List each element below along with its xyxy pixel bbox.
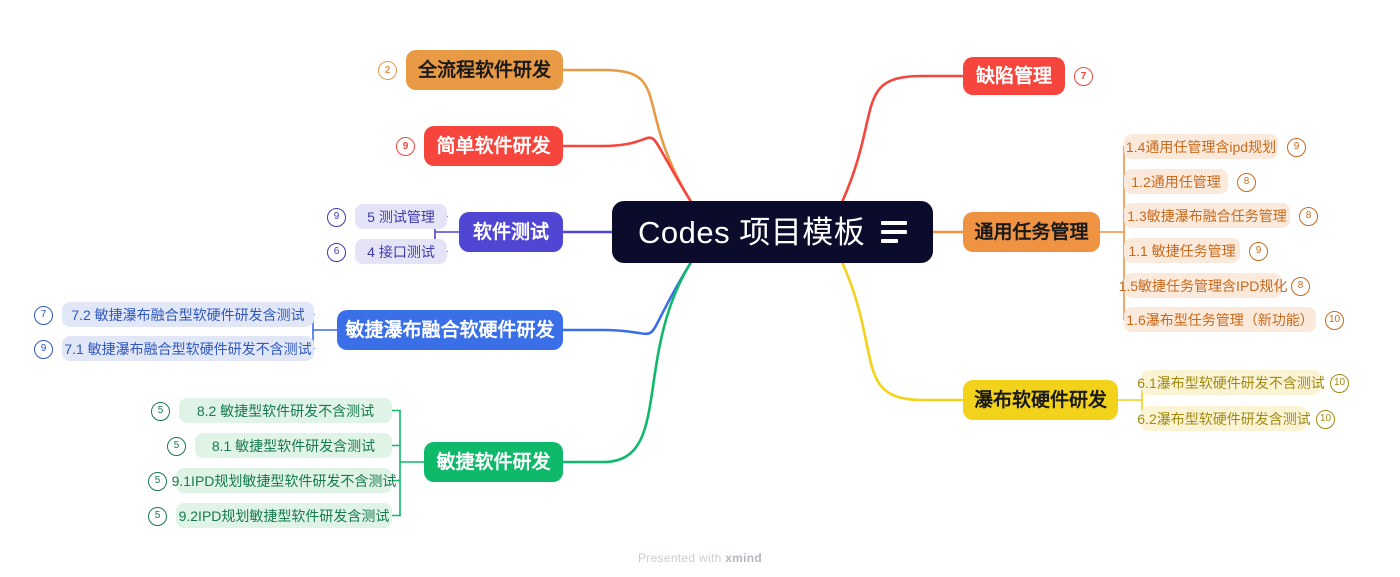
leaf-label: 8.2 敏捷型软件研发不含测试 — [197, 404, 374, 418]
branch-node-quexian[interactable]: 缺陷管理7 — [963, 57, 1065, 95]
node-badge: 5 — [148, 472, 167, 491]
leaf-label: 5 测试管理 — [367, 210, 435, 224]
node-badge: 5 — [148, 507, 167, 526]
leaf-node[interactable]: 1.5敏捷任务管理含IPD规化8 — [1124, 273, 1282, 298]
leaf-node[interactable]: 4 接口测试6 — [355, 239, 447, 264]
branch-label: 软件测试 — [473, 223, 549, 242]
node-badge: 7 — [34, 306, 53, 325]
node-badge: 5 — [151, 402, 170, 421]
branch-node-jiandan[interactable]: 简单软件研发9 — [424, 126, 563, 166]
node-badge: 10 — [1325, 311, 1344, 330]
node-badge: 8 — [1291, 277, 1310, 296]
leaf-node[interactable]: 8.2 敏捷型软件研发不含测试5 — [179, 398, 392, 423]
branch-label: 通用任务管理 — [975, 223, 1089, 242]
leaf-label: 1.3敏捷瀑布融合任务管理 — [1127, 209, 1286, 223]
leaf-node[interactable]: 6.2瀑布型软硬件研发含测试10 — [1141, 406, 1307, 431]
leaf-node[interactable]: 1.4通用任管理含ipd规划9 — [1124, 134, 1278, 159]
node-badge: 9 — [34, 340, 53, 359]
branch-label: 全流程软件研发 — [418, 61, 551, 80]
root-label: Codes 项目模板 — [638, 217, 865, 248]
leaf-node[interactable]: 5 测试管理9 — [355, 204, 447, 229]
leaf-label: 8.1 敏捷型软件研发含测试 — [212, 439, 375, 453]
branch-label: 敏捷瀑布融合软硬件研发 — [346, 321, 555, 340]
node-badge: 5 — [167, 437, 186, 456]
node-badge: 6 — [327, 243, 346, 262]
leaf-label: 6.1瀑布型软硬件研发不含测试 — [1137, 376, 1324, 390]
leaf-label: 1.2通用任管理 — [1131, 175, 1220, 189]
branch-node-tongyong[interactable]: 通用任务管理 — [963, 212, 1100, 252]
mindmap-canvas: Codes 项目模板全流程软件研发2简单软件研发9软件测试5 测试管理94 接口… — [0, 0, 1400, 577]
leaf-node[interactable]: 9.1IPD规划敏捷型软件研发不含测试5 — [176, 468, 392, 493]
branch-label: 缺陷管理 — [976, 67, 1052, 86]
branch-node-minjiepubu[interactable]: 敏捷瀑布融合软硬件研发 — [337, 310, 563, 350]
branch-label: 简单软件研发 — [437, 137, 551, 156]
branch-node-pubu[interactable]: 瀑布软硬件研发 — [963, 380, 1118, 420]
leaf-label: 7.2 敏捷瀑布融合型软硬件研发含测试 — [71, 308, 304, 322]
node-badge: 9 — [1287, 138, 1306, 157]
node-badge: 7 — [1074, 67, 1093, 86]
leaf-label: 1.4通用任管理含ipd规划 — [1126, 140, 1276, 154]
branch-label: 瀑布软硬件研发 — [974, 391, 1107, 410]
leaf-node[interactable]: 1.1 敏捷任务管理9 — [1124, 238, 1240, 263]
leaf-node[interactable]: 7.1 敏捷瀑布融合型软硬件研发不含测试9 — [62, 336, 314, 361]
branch-node-ruanjianceshi[interactable]: 软件测试 — [459, 212, 563, 252]
footer-brand: xmind — [725, 551, 762, 565]
node-badge: 9 — [1249, 242, 1268, 261]
node-badge: 9 — [327, 208, 346, 227]
footer-prefix: Presented with — [638, 551, 725, 565]
branch-node-minjieruanjian[interactable]: 敏捷软件研发 — [424, 442, 563, 482]
leaf-label: 9.1IPD规划敏捷型软件研发不含测试 — [172, 474, 397, 488]
footer-watermark: Presented with xmind — [0, 551, 1400, 565]
node-badge: 9 — [396, 137, 415, 156]
node-badge: 2 — [378, 61, 397, 80]
leaf-label: 1.5敏捷任务管理含IPD规化 — [1119, 279, 1288, 293]
leaf-node[interactable]: 1.2通用任管理8 — [1124, 169, 1228, 194]
leaf-node[interactable]: 8.1 敏捷型软件研发含测试5 — [195, 433, 392, 458]
node-badge: 8 — [1237, 173, 1256, 192]
leaf-node[interactable]: 6.1瀑布型软硬件研发不含测试10 — [1141, 370, 1321, 395]
leaf-node[interactable]: 7.2 敏捷瀑布融合型软硬件研发含测试7 — [62, 302, 314, 327]
notes-icon[interactable] — [881, 221, 907, 243]
leaf-label: 9.2IPD规划敏捷型软件研发含测试 — [179, 509, 390, 523]
leaf-node[interactable]: 1.3敏捷瀑布融合任务管理8 — [1124, 203, 1290, 228]
root-node[interactable]: Codes 项目模板 — [612, 201, 933, 263]
leaf-label: 6.2瀑布型软硬件研发含测试 — [1137, 412, 1310, 426]
node-badge: 8 — [1299, 207, 1318, 226]
leaf-label: 4 接口测试 — [367, 245, 435, 259]
leaf-label: 7.1 敏捷瀑布融合型软硬件研发不含测试 — [64, 342, 311, 356]
branch-node-quanliucheng[interactable]: 全流程软件研发2 — [406, 50, 563, 90]
leaf-node[interactable]: 9.2IPD规划敏捷型软件研发含测试5 — [176, 503, 392, 528]
node-badge: 10 — [1316, 410, 1335, 429]
node-badge: 10 — [1330, 374, 1349, 393]
leaf-label: 1.6瀑布型任务管理（新功能） — [1126, 313, 1313, 327]
leaf-label: 1.1 敏捷任务管理 — [1128, 244, 1235, 258]
branch-label: 敏捷软件研发 — [437, 453, 551, 472]
leaf-node[interactable]: 1.6瀑布型任务管理（新功能）10 — [1124, 307, 1316, 332]
